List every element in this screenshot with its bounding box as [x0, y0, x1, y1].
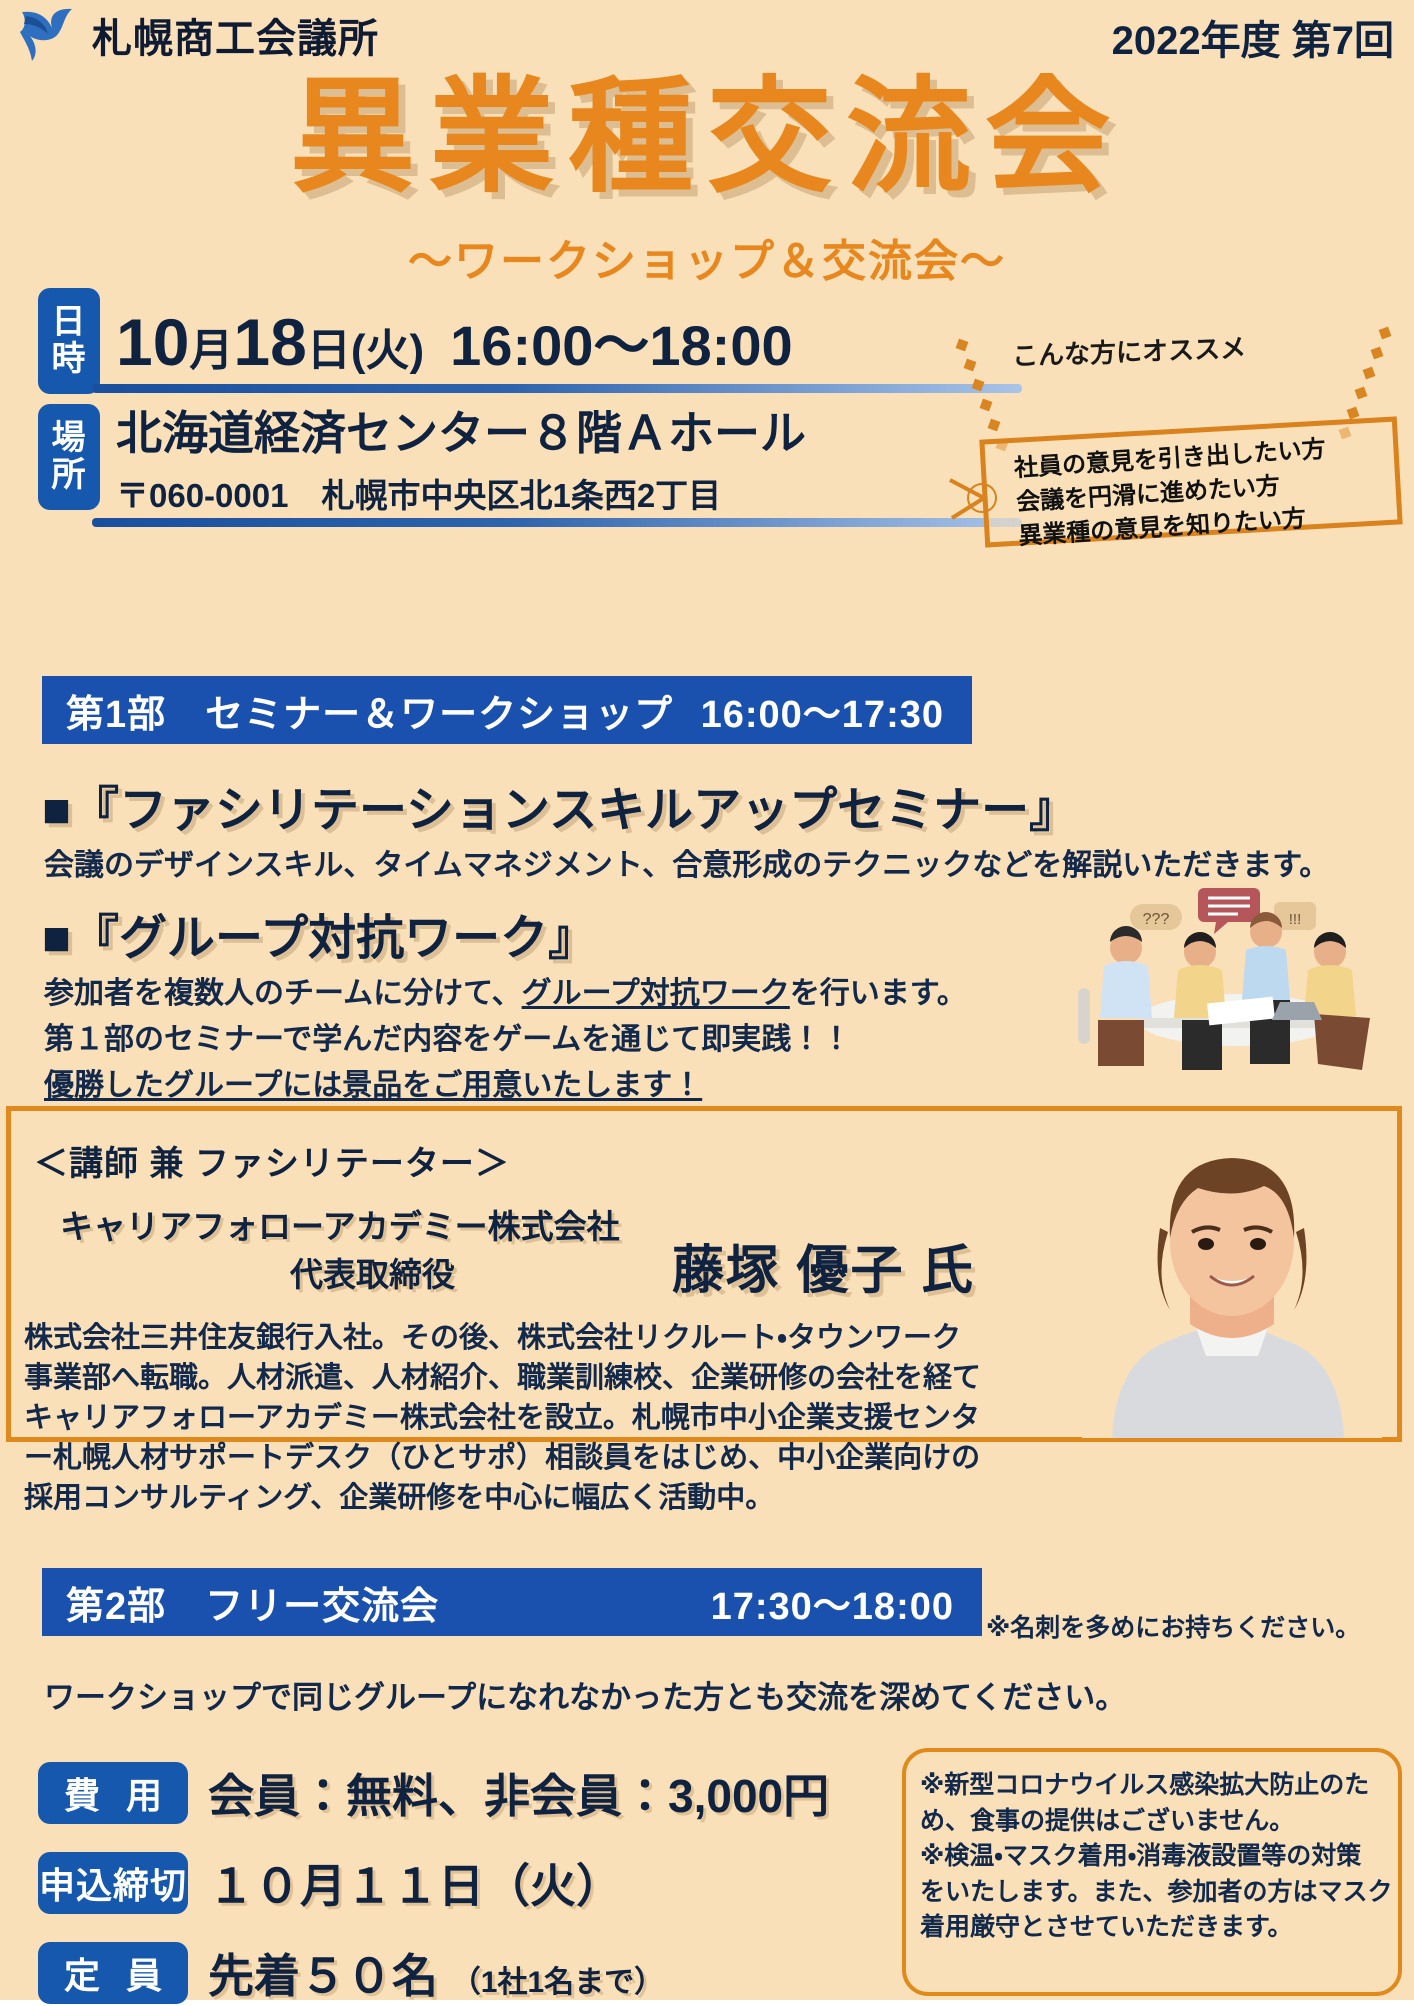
part2-bar-time: 17:30〜18:00: [711, 1575, 954, 1630]
date-weekday: (火): [351, 314, 424, 378]
lecturer-bio-line-5: 採用コンサルティング、企業研修を中心に幅広く活動中。: [24, 1478, 1064, 1518]
fee-row: 費用 会員：無料、非会員：3,000円: [38, 1760, 829, 1826]
lecturer-role: 代表取締役: [290, 1248, 455, 1296]
divider-rule-place: [92, 518, 1022, 527]
part1-bar-title: 第1部 セミナー＆ワークショップ: [66, 683, 673, 738]
flyer-page: 札幌商工会議所 2022年度 第7回 異業種交流会 〜ワークショップ＆交流会〜 …: [0, 0, 1414, 2000]
svg-text:!!!: !!!: [1289, 911, 1302, 928]
place-value: 北海道経済センター８階Ａホール 〒060-0001 札幌市中央区北1条西2丁目: [116, 404, 806, 510]
part1-item1-description: 会議のデザインスキル、タイムマネジメント、合意形成のテクニックなどを解説いただき…: [44, 840, 1329, 884]
lecturer-portrait-photo: [1082, 1120, 1382, 1438]
lecturer-bio-line-3: キャリアフォローアカデミー株式会社を設立。札幌市中小企業支援センタ: [24, 1398, 1064, 1438]
fee-value: 会員：無料、非会員：3,000円: [208, 1760, 829, 1826]
place-row: 場 所 北海道経済センター８階Ａホール 〒060-0001 札幌市中央区北1条西…: [38, 404, 806, 510]
part1-item2-heading: ■『グループ対抗ワーク』: [42, 898, 596, 968]
part1-section-bar: 第1部 セミナー＆ワークショップ 16:00〜17:30: [42, 676, 972, 744]
capacity-value: 先着５０名 （1社1名まで）: [208, 1940, 664, 2006]
covid-line-2: め、食事の提供はございません。: [920, 1804, 1390, 1840]
part1-bar-time: 16:00〜17:30: [701, 683, 944, 738]
item2-desc-pre: 参加者を複数人のチームに分けて、: [44, 977, 522, 1010]
divider-rule-datetime: [92, 384, 1022, 393]
part1-item2-description: 参加者を複数人のチームに分けて、グループ対抗ワークを行います。: [44, 968, 967, 1012]
lecturer-bio-line-2: 事業部へ転職。人材派遣、人材紹介、職業訓練校、企業研修の会社を経て: [24, 1358, 1064, 1398]
lecturer-name: 藤塚 優子 氏: [672, 1228, 975, 1303]
lecturer-company: キャリアフォローアカデミー株式会社: [60, 1200, 620, 1248]
fee-label-badge: 費用: [38, 1762, 188, 1824]
datetime-row: 日 時 10 月 18 日 (火) 16:00〜18:00: [38, 288, 793, 394]
lecturer-section-label: ＜講師 兼 ファシリテーター＞: [34, 1136, 510, 1185]
recommend-label: こんな方にオススメ: [1011, 328, 1246, 373]
sapporo-cci-logo-icon: [18, 6, 78, 64]
part1-item2-line3: 優勝したグループには景品をご用意いたします！: [44, 1060, 702, 1104]
covid-notice-text: ※新型コロナウイルス感染拡大防止のた め、食事の提供はございません。 ※検温・マ…: [920, 1768, 1390, 1946]
lecturer-bio-line-1: 株式会社三井住友銀行入社。その後、株式会社リクルート・タウンワーク: [24, 1318, 1064, 1358]
datetime-badge-line2: 時: [52, 341, 87, 378]
lecturer-bio: 株式会社三井住友銀行入社。その後、株式会社リクルート・タウンワーク 事業部へ転職…: [24, 1318, 1064, 1518]
datetime-badge: 日 時: [38, 288, 100, 394]
venue-address: 〒060-0001 札幌市中央区北1条西2丁目: [116, 469, 806, 517]
capacity-number: 先着５０名: [208, 1950, 438, 2002]
date-day: 18: [233, 304, 306, 380]
page-title: 異業種交流会: [0, 72, 1414, 203]
capacity-row: 定員 先着５０名 （1社1名まで）: [38, 1940, 664, 2006]
edition-label: 2022年度 第7回: [1112, 8, 1394, 66]
part2-bar-title: 第2部 フリー交流会: [66, 1575, 439, 1630]
group-meeting-illustration: ??? !!!: [1058, 880, 1408, 1080]
svg-text:???: ???: [1143, 911, 1170, 928]
covid-line-4: をいたします。また、参加者の方はマスク: [920, 1875, 1390, 1911]
capacity-note: （1社1名まで）: [451, 1966, 664, 1999]
deadline-row: 申込締切 １０月１１日（火）: [38, 1850, 622, 1916]
date-day-unit: 日: [307, 314, 351, 378]
covid-line-1: ※新型コロナウイルス感染拡大防止のた: [920, 1768, 1390, 1804]
business-card-note: ※名刺を多めにお持ちください。: [986, 1608, 1360, 1644]
deadline-value: １０月１１日（火）: [208, 1850, 622, 1916]
part1-item2-line2: 第１部のセミナーで学んだ内容をゲームを通じて即実践！！: [44, 1014, 851, 1058]
part1-item1-heading: ■『ファシリテーションスキルアップセミナー』: [42, 770, 1077, 840]
item2-desc-underlined: グループ対抗ワーク: [522, 977, 790, 1010]
date-month-unit: 月: [189, 314, 233, 378]
capacity-label-badge: 定員: [38, 1942, 188, 2004]
venue-name: 北海道経済センター８階Ａホール: [116, 397, 806, 463]
callout-pointer-icon: [948, 470, 1004, 526]
datetime-value: 10 月 18 日 (火) 16:00〜18:00: [116, 301, 793, 382]
place-badge-line1: 場: [52, 420, 87, 457]
organization-header: 札幌商工会議所: [18, 6, 379, 64]
datetime-badge-line1: 日: [52, 304, 87, 341]
event-time-range: 16:00〜18:00: [450, 301, 792, 382]
part2-description: ワークショップで同じグループになれなかった方とも交流を深めてください。: [44, 1672, 1126, 1717]
covid-line-5: 着用厳守とさせていただきます。: [920, 1910, 1390, 1946]
part2-section-bar: 第2部 フリー交流会 17:30〜18:00: [42, 1568, 982, 1636]
date-month: 10: [116, 304, 189, 380]
organization-name: 札幌商工会議所: [92, 6, 379, 64]
covid-line-3: ※検温・マスク着用・消毒液設置等の対策: [920, 1839, 1390, 1875]
page-subtitle: 〜ワークショップ＆交流会〜: [0, 225, 1414, 289]
place-badge: 場 所: [38, 404, 100, 510]
place-badge-line2: 所: [52, 457, 87, 494]
lecturer-bio-line-4: ー札幌人材サポートデスク（ひとサポ）相談員をはじめ、中小企業向けの: [24, 1438, 1064, 1478]
item2-desc-post: を行います。: [790, 977, 967, 1010]
deadline-label-badge: 申込締切: [38, 1852, 188, 1914]
